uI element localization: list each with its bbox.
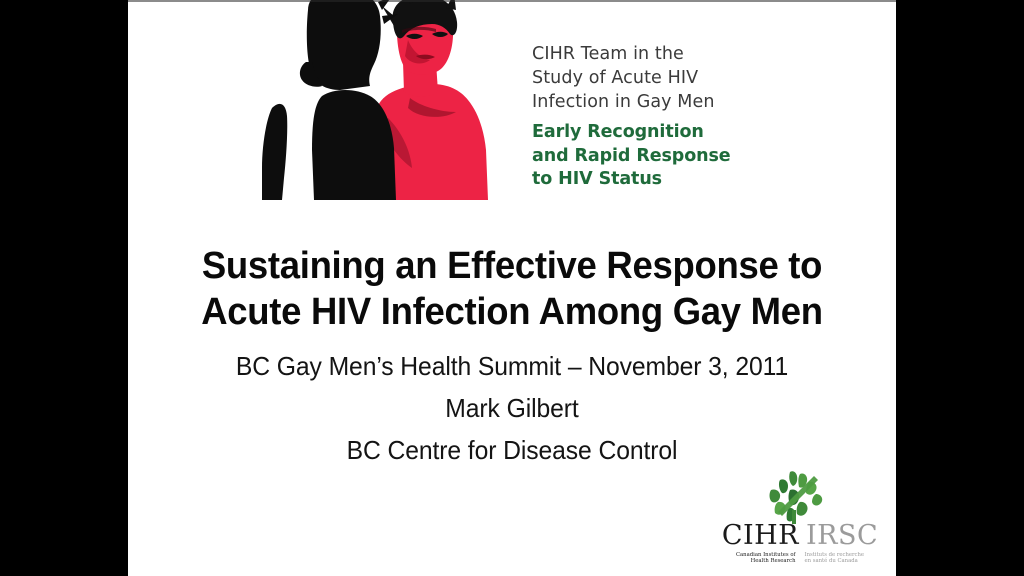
cihr-team-text-block: CIHR Team in the Study of Acute HIV Infe… bbox=[532, 42, 762, 192]
title-line-1: Sustaining an Effective Response to bbox=[143, 243, 880, 289]
cihr-maple-leaf-icon bbox=[756, 470, 828, 524]
frame-top-scanline bbox=[128, 0, 896, 2]
page-title: Sustaining an Effective Response to Acut… bbox=[128, 243, 896, 335]
cihr-logo-tagline: Canadian Institutes of Health Research I… bbox=[720, 552, 880, 564]
tagline-line-3: to HIV Status bbox=[532, 168, 762, 192]
cihr-irsc-logo: CIHRIRSC Canadian Institutes of Health R… bbox=[720, 470, 880, 568]
subtitle-event: BC Gay Men’s Health Summit – November 3,… bbox=[147, 345, 877, 387]
wordmark-irsc: IRSC bbox=[806, 520, 878, 551]
subtitle-presenter: Mark Gilbert bbox=[147, 387, 877, 429]
logo-tagline-fr-line2: en santé du Canada bbox=[805, 558, 873, 564]
logo-tagline-french: Instituts de recherche en santé du Canad… bbox=[805, 552, 873, 564]
wordmark-cihr: CIHR bbox=[722, 520, 799, 551]
video-frame: CIHR Team in the Study of Acute HIV Infe… bbox=[0, 0, 1024, 576]
subtitle-block: BC Gay Men’s Health Summit – November 3,… bbox=[128, 345, 896, 471]
subtitle-affiliation: BC Centre for Disease Control bbox=[147, 429, 877, 471]
presentation-slide: CIHR Team in the Study of Acute HIV Infe… bbox=[128, 0, 896, 576]
cihr-team-tagline-block: Early Recognition and Rapid Response to … bbox=[532, 121, 762, 192]
logo-tagline-english: Canadian Institutes of Health Research bbox=[728, 552, 796, 564]
cihr-wordmark: CIHRIRSC bbox=[720, 521, 880, 551]
team-line-3: Infection in Gay Men bbox=[532, 90, 762, 114]
team-line-1: CIHR Team in the bbox=[532, 42, 762, 66]
tagline-line-1: Early Recognition bbox=[532, 121, 762, 145]
title-line-2: Acute HIV Infection Among Gay Men bbox=[143, 289, 880, 335]
two-men-pop-art-illustration bbox=[260, 0, 510, 200]
tagline-line-2: and Rapid Response bbox=[532, 145, 762, 169]
logo-tagline-en-line2: Health Research bbox=[728, 558, 796, 564]
header-banner: CIHR Team in the Study of Acute HIV Infe… bbox=[128, 0, 896, 205]
team-line-2: Study of Acute HIV bbox=[532, 66, 762, 90]
